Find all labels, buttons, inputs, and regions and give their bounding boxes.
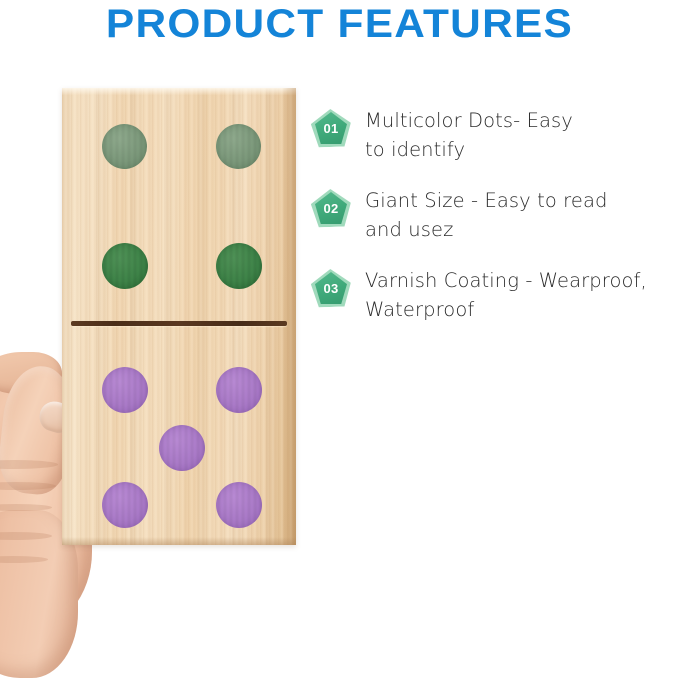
- tile-pip-green: [102, 243, 148, 289]
- tile-pip-green: [216, 243, 262, 289]
- product-photo: [0, 70, 310, 654]
- tile-pip-purple: [216, 482, 262, 528]
- badge-number: 01: [315, 112, 347, 144]
- tile-pip-purple: [159, 425, 205, 471]
- tile-pip-purple: [216, 367, 262, 413]
- badge-number: 02: [315, 192, 347, 224]
- feature-item: 03 Varnish Coating - Wearproof, Waterpro…: [310, 266, 679, 324]
- feature-number-badge-02: 02: [310, 188, 352, 230]
- tile-pip-green: [216, 124, 261, 169]
- tile-top-edge: [62, 88, 296, 95]
- badge-number: 03: [315, 272, 347, 304]
- tile-right-edge: [282, 88, 296, 545]
- tile-bottom-edge: [62, 537, 296, 545]
- feature-number-badge-01: 01: [310, 108, 352, 150]
- feature-item: 02 Giant Size - Easy to read and usez: [310, 186, 679, 244]
- tile-pip-purple: [102, 367, 148, 413]
- page-title: PRODUCT FEATURES: [0, 2, 679, 47]
- feature-text: Multicolor Dots- Easy to identify: [365, 106, 573, 164]
- tile-pip-green: [102, 124, 147, 169]
- feature-text: Giant Size - Easy to read and usez: [365, 186, 608, 244]
- feature-item: 01 Multicolor Dots- Easy to identify: [310, 106, 679, 164]
- feature-list: 01 Multicolor Dots- Easy to identify 02 …: [310, 106, 679, 346]
- tile-divider-line: [71, 321, 287, 326]
- feature-number-badge-03: 03: [310, 268, 352, 310]
- tile-pip-purple: [102, 482, 148, 528]
- domino-tile: [62, 88, 296, 545]
- feature-text: Varnish Coating - Wearproof, Waterproof: [365, 266, 647, 324]
